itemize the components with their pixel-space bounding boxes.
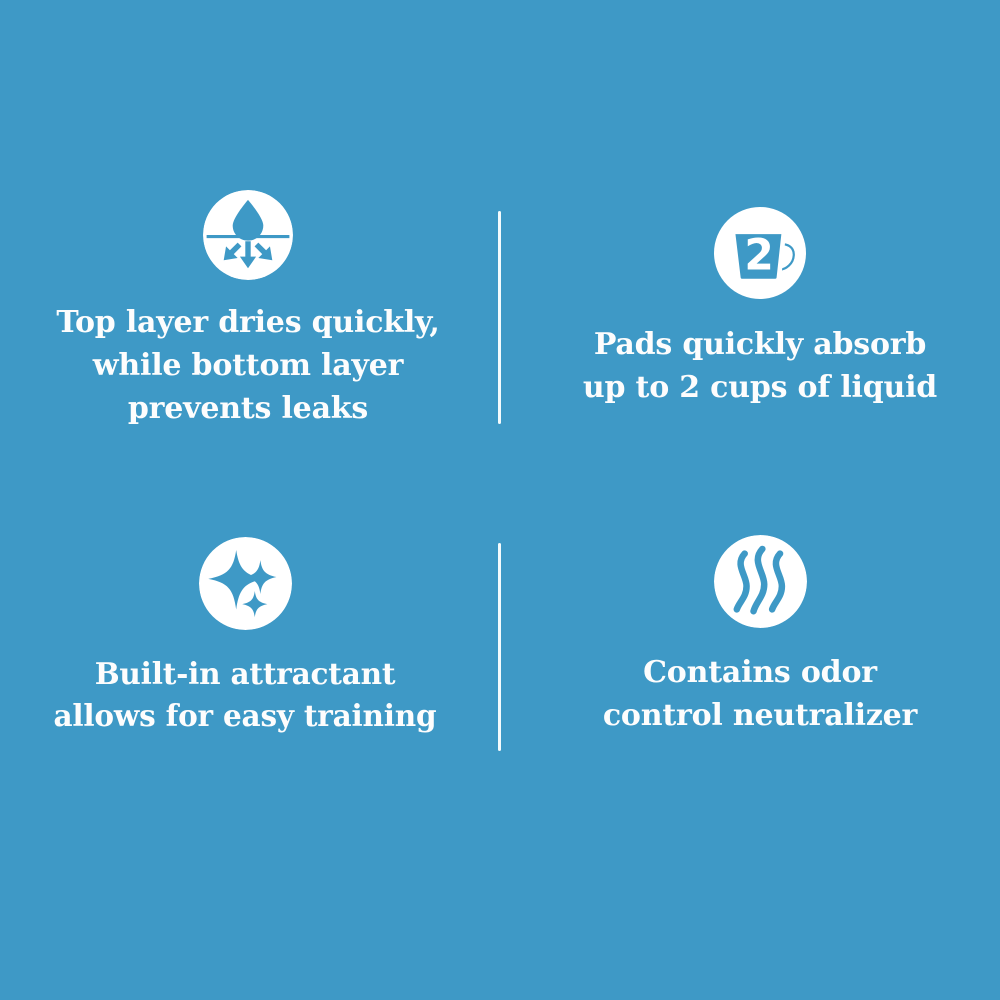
sparkles-icon — [199, 537, 292, 630]
feature-cell-absorbs-two-cups: 2 Pads quickly absorb up to 2 cups of li… — [540, 207, 980, 409]
divider-top — [498, 211, 501, 424]
measuring-cup-value: 2 — [744, 231, 773, 280]
measuring-cup-2-icon: 2 — [714, 207, 806, 299]
odor-waves-icon — [714, 535, 807, 628]
feature-cell-built-in-attractant: Built-in attractant allows for easy trai… — [25, 537, 465, 737]
feature-poster: Top layer dries quickly, while bottom la… — [0, 0, 1000, 1000]
feature-caption: Contains odor control neutralizer — [540, 651, 980, 737]
water-droplet-absorb-icon — [203, 190, 293, 280]
feature-caption: Pads quickly absorb up to 2 cups of liqu… — [540, 323, 980, 409]
divider-bottom — [498, 543, 501, 751]
feature-cell-odor-control: Contains odor control neutralizer — [540, 535, 980, 737]
feature-cell-dries-quickly: Top layer dries quickly, while bottom la… — [28, 190, 468, 430]
feature-caption: Top layer dries quickly, while bottom la… — [28, 301, 468, 430]
feature-caption: Built-in attractant allows for easy trai… — [25, 653, 465, 737]
